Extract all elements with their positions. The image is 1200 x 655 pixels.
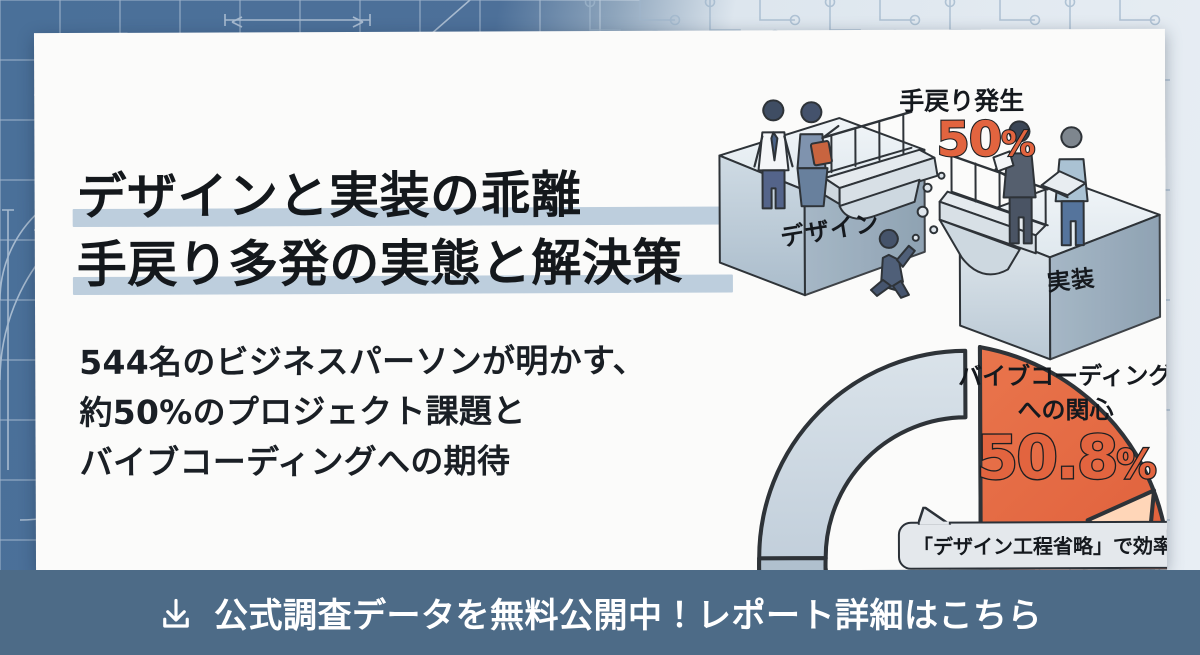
headline-line-1: デザインと実装の乖離 <box>76 160 736 231</box>
subtitle: 544名のビジネスパーソンが明かす、 約50%のプロジェクト課題と バイブコーデ… <box>79 335 740 488</box>
subtitle-line-3: バイブコーディングへの期待 <box>80 435 740 488</box>
cta-label: 公式調査データを無料公開中！レポート詳細はこちら <box>214 588 1042 637</box>
page-title: デザインと実装の乖離 手戻り多発の実態と解決策 <box>76 160 737 299</box>
cta-bar[interactable]: 公式調査データを無料公開中！レポート詳細はこちら <box>0 570 1200 655</box>
donut-percent-value: 50.8 <box>976 423 1116 494</box>
rework-percent-value: 50 <box>936 111 1001 167</box>
headline-text-1: デザインと実装の乖離 <box>76 166 581 226</box>
donut-percent-unit: % <box>1117 442 1155 488</box>
headline-line-2: 手戻り多発の実態と解決策 <box>77 228 737 299</box>
subtitle-line-1: 544名のビジネスパーソンが明かす、 <box>79 335 739 388</box>
callout-pointer-icon <box>918 507 952 525</box>
main-card: デザインと実装の乖離 手戻り多発の実態と解決策 544名のビジネスパーソンが明か… <box>34 29 1167 573</box>
headline-text-2: 手戻り多発の実態と解決策 <box>77 234 683 294</box>
subtitle-line-2: 約50%のプロジェクト課題と <box>79 385 739 438</box>
download-icon <box>158 596 194 632</box>
rework-percent: 50% <box>936 111 1034 167</box>
donut-caption-line-1: バイブコーディング <box>940 359 1167 394</box>
donut-percent: 50.8% <box>940 427 1167 497</box>
callout-box: 「デザイン工程省略」で効率化 <box>898 521 1167 570</box>
donut-caption: バイブコーディング への関心 <box>940 359 1167 428</box>
rework-percent-unit: % <box>1001 124 1034 164</box>
poster-stage: デザインと実装の乖離 手戻り多発の実態と解決策 544名のビジネスパーソンが明か… <box>0 0 1200 655</box>
cube-label-implementation: 実装 <box>1045 259 1096 298</box>
callout-text: 「デザイン工程省略」で効率化 <box>913 534 1167 559</box>
